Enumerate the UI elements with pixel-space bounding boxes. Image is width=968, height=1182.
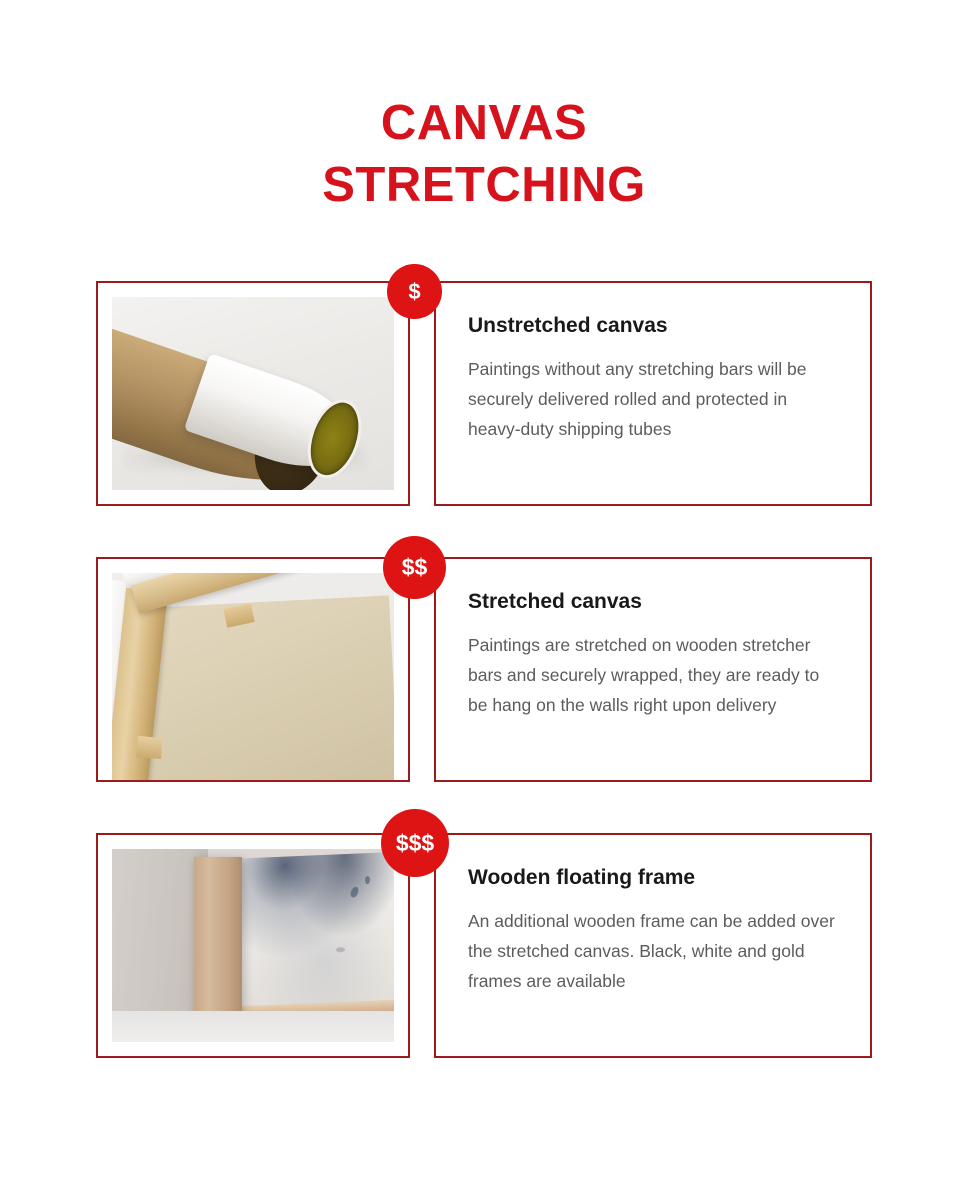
- options-list: $ Unstretched canvas Paintings without a…: [96, 281, 872, 1058]
- stretched-canvas-photo: [112, 573, 394, 780]
- option-description: Paintings are stretched on wooden stretc…: [468, 630, 840, 720]
- page-title: CANVAS STRETCHING: [0, 92, 968, 216]
- option-title: Stretched canvas: [468, 589, 840, 615]
- text-card-unstretched-canvas: Unstretched canvas Paintings without any…: [434, 281, 872, 506]
- option-row-wooden-floating-frame: $$$ Wooden floating frame An additional …: [96, 833, 872, 1058]
- canvas-stretching-infographic: CANVAS STRETCHING $ Unstretched canvas P…: [0, 0, 968, 1182]
- page-title-line-1: CANVAS: [0, 92, 968, 154]
- text-card-stretched-canvas: Stretched canvas Paintings are stretched…: [434, 557, 872, 782]
- option-title: Unstretched canvas: [468, 313, 840, 339]
- option-row-stretched-canvas: $$ Stretched canvas Paintings are stretc…: [96, 557, 872, 782]
- wooden-floating-frame-photo: [112, 849, 394, 1042]
- price-badge-two-dollar: $$: [383, 536, 446, 599]
- option-row-unstretched-canvas: $ Unstretched canvas Paintings without a…: [96, 281, 872, 506]
- image-frame-wooden-floating-frame: $$$: [96, 833, 410, 1058]
- page-title-line-2: STRETCHING: [0, 154, 968, 216]
- option-title: Wooden floating frame: [468, 865, 840, 891]
- text-card-wooden-floating-frame: Wooden floating frame An additional wood…: [434, 833, 872, 1058]
- image-frame-unstretched-canvas: $: [96, 281, 410, 506]
- price-badge-three-dollar: $$$: [381, 809, 449, 877]
- unstretched-canvas-photo: [112, 297, 394, 490]
- image-frame-stretched-canvas: $$: [96, 557, 410, 782]
- option-description: Paintings without any stretching bars wi…: [468, 354, 840, 444]
- price-badge-one-dollar: $: [387, 264, 442, 319]
- option-description: An additional wooden frame can be added …: [468, 906, 840, 996]
